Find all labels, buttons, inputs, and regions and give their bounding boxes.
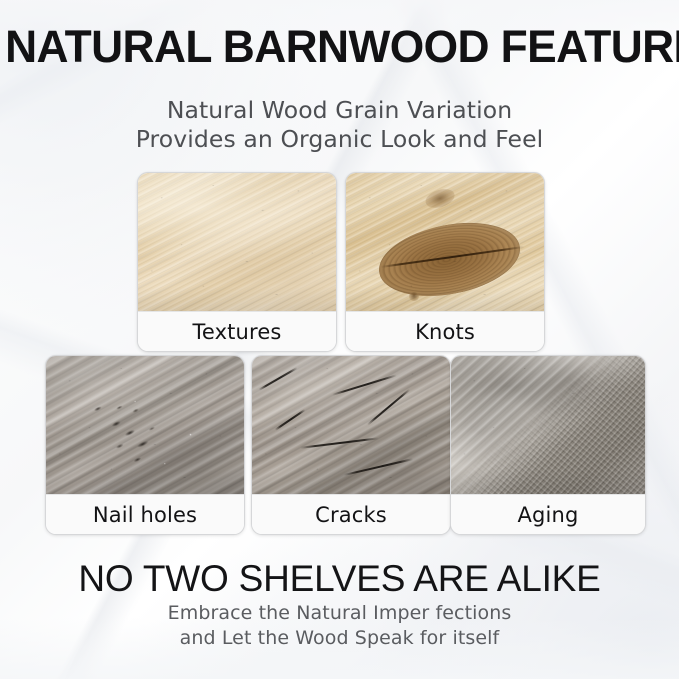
photo-inner-shading [138,173,336,311]
photo-inner-shading [346,173,544,311]
feature-caption-knots: Knots [346,311,544,351]
feature-caption-nail-holes: Nail holes [46,494,244,534]
feature-photo-cracks [252,356,450,494]
feature-card-knots[interactable]: Knots [345,172,545,352]
feature-card-cracks[interactable]: Cracks [251,355,451,535]
photo-inner-shading [46,356,244,494]
feature-photo-textures [138,173,336,311]
photo-inner-shading [252,356,450,494]
photo-inner-shading [451,356,645,494]
feature-card-nail-holes[interactable]: Nail holes [45,355,245,535]
subtitle-line-2: Provides an Organic Look and Feel [0,125,679,154]
infographic-canvas: NATURAL BARNWOOD FEATURES Natural Wood G… [0,0,679,679]
footer-note: Embrace the Natural Imper fections and L… [0,601,679,651]
feature-card-textures[interactable]: Textures [137,172,337,352]
page-title: NATURAL BARNWOOD FEATURES [5,24,674,69]
feature-photo-aging [451,356,645,494]
feature-photo-knots [346,173,544,311]
feature-photo-nail-holes [46,356,244,494]
page-subtitle: Natural Wood Grain Variation Provides an… [0,96,679,154]
subtitle-line-1: Natural Wood Grain Variation [0,96,679,125]
feature-caption-textures: Textures [138,311,336,351]
feature-card-aging[interactable]: Aging [450,355,646,535]
footer-note-line-2: and Let the Wood Speak for itself [0,626,679,651]
feature-caption-cracks: Cracks [252,494,450,534]
footer-note-line-1: Embrace the Natural Imper fections [0,601,679,626]
footer-title: NO TWO SHELVES ARE ALIKE [0,560,679,597]
feature-caption-aging: Aging [451,494,645,534]
